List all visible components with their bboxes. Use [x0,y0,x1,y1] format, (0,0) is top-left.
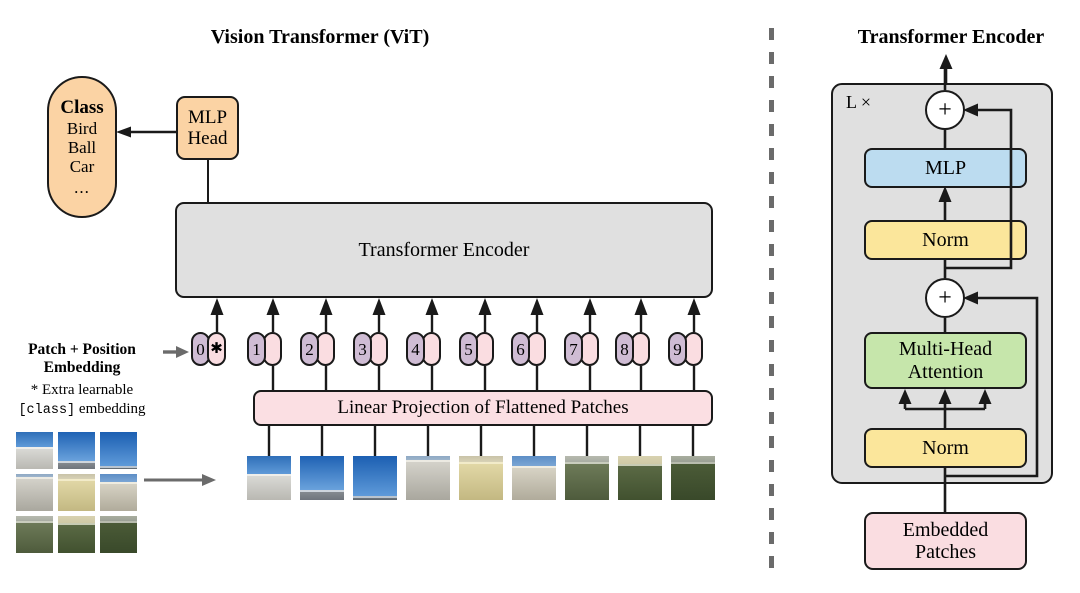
linear-projection-label: Linear Projection of Flattened Patches [337,397,628,418]
transformer-encoder-box: Transformer Encoder [175,202,713,298]
patch-building-region [100,466,137,469]
flattened-patch-6 [512,456,556,500]
patch-token-4: 4 [406,332,441,366]
token-index-pill-3: 3 [353,332,372,366]
left-panel-title: Vision Transformer (ViT) [170,26,470,49]
mlp-block: MLP [864,148,1027,188]
token-index-pill-2: 2 [300,332,319,366]
patch-building-region [406,460,450,500]
flattened-patch-1 [247,456,291,500]
class-item-bird: Bird [67,119,97,138]
patch-token-3: 3 [353,332,388,366]
multi-head-attention-block: Multi-Head Attention [864,332,1027,389]
patch-sky-region [58,516,95,523]
patch-building-region [618,464,662,500]
patch-building-region [16,477,53,511]
token-index-pill-8: 8 [615,332,634,366]
patch-building-region [512,466,556,500]
linear-projection-box: Linear Projection of Flattened Patches [253,390,713,426]
patch-building-region [459,462,503,500]
patch-building-region [100,482,137,511]
patch-building-region [565,462,609,500]
source-patch-r1-c3 [100,432,137,469]
plus-symbol-bottom: + [938,286,952,310]
patch-sky-region [353,456,397,496]
patch-sky-region [16,432,53,447]
patch-position-embedding-label: Patch + Position Embedding [2,341,162,378]
flattened-patch-7 [565,456,609,500]
patch-sky-region [300,456,344,490]
token-index-pill-9: 9 [668,332,687,366]
right-panel-title: Transformer Encoder [826,26,1076,49]
class-embedding-pill: ✱ [207,332,226,366]
mlp-head-box: MLP Head [176,96,239,160]
patch-building-region [58,461,95,469]
token-index-pill-4: 4 [406,332,425,366]
mlp-head-to-encoder-connector [207,160,209,204]
source-to-strip-arrow [144,472,220,488]
embedded-patches-line1: Embedded [903,519,989,541]
footnote-line-2-tail: embedding [75,401,145,417]
flattened-patch-5 [459,456,503,500]
flattened-patch-2 [300,456,344,500]
token-index-pill-7: 7 [564,332,583,366]
residual-add-top: + [925,90,965,130]
source-patch-r3-c1 [16,516,53,553]
patch-building-region [300,490,344,500]
embedded-patches-line2: Patches [915,541,976,563]
patch-sky-region [100,474,137,482]
patch-token-8: 8 [615,332,650,366]
token-index-pill-6: 6 [511,332,530,366]
patch-token-2: 2 [300,332,335,366]
patch-token-0: 0✱ [191,332,226,366]
patch-building-region [16,447,53,469]
norm-block-top: Norm [864,220,1027,260]
patch-sky-region [512,456,556,466]
footnote-line-1: * Extra learnable [2,381,162,400]
source-patch-r3-c3 [100,516,137,553]
footnote-line-2: [class] embedding [2,400,162,420]
flattened-patch-9 [671,456,715,500]
patch-sky-region [58,432,95,461]
source-patch-r1-c2 [58,432,95,469]
norm-bottom-label: Norm [922,437,969,459]
patch-building-region [16,521,53,553]
patch-building-region [247,474,291,500]
source-patch-r2-c2 [58,474,95,511]
embedding-label-line1: Patch + Position [2,341,162,359]
mlp-head-label-line2: Head [187,128,227,149]
embedding-label-line2: Embedding [2,359,162,377]
embedding-label-arrow [163,344,193,360]
class-item-ball: Ball [68,138,96,157]
flattened-patch-4 [406,456,450,500]
patch-token-5: 5 [459,332,494,366]
class-item-car: Car [70,157,95,176]
source-patch-r2-c1 [16,474,53,511]
mlp-head-label-line1: MLP [188,107,227,128]
patch-token-1: 1 [247,332,282,366]
token-index-pill-1: 1 [247,332,266,366]
asterisk-icon: ✱ [210,342,223,357]
transformer-encoder-label: Transformer Encoder [359,239,530,261]
source-patch-r1-c1 [16,432,53,469]
flattened-patch-8 [618,456,662,500]
patch-sky-region [247,456,291,474]
attention-label-line2: Attention [908,361,984,383]
class-token-literal: [class] [18,403,75,418]
norm-top-label: Norm [922,229,969,251]
source-patch-r2-c3 [100,474,137,511]
patch-building-region [353,496,397,500]
patch-token-9: 9 [668,332,703,366]
norm-block-bottom: Norm [864,428,1027,468]
class-output-box: Class Bird Ball Car ... [47,76,117,218]
patch-building-region [671,462,715,500]
repeat-count-text: L × [846,92,871,112]
patch-sky-region [100,432,137,466]
embedded-patches-block: Embedded Patches [864,512,1027,570]
panel-divider [769,28,774,570]
plus-symbol-top: + [938,98,952,122]
source-image-patch-grid [16,432,138,554]
patch-building-region [100,521,137,553]
extra-learnable-footnote: * Extra learnable [class] embedding [2,381,162,420]
attention-label-line1: Multi-Head [899,338,992,360]
patch-building-region [58,523,95,553]
repeat-count-label: L × [846,92,871,113]
mlp-block-label: MLP [925,157,966,179]
patch-token-6: 6 [511,332,546,366]
source-patch-r3-c2 [58,516,95,553]
patch-building-region [58,479,95,511]
token-index-pill-5: 5 [459,332,478,366]
flattened-patch-3 [353,456,397,500]
residual-add-bottom: + [925,278,965,318]
patch-sky-region [618,456,662,464]
patch-token-7: 7 [564,332,599,366]
vit-architecture-diagram: Vision Transformer (ViT) Class Bird Ball… [0,0,1080,593]
class-ellipsis: ... [74,178,90,197]
mlp-head-to-class-arrow [116,124,178,140]
class-heading: Class [60,97,103,118]
